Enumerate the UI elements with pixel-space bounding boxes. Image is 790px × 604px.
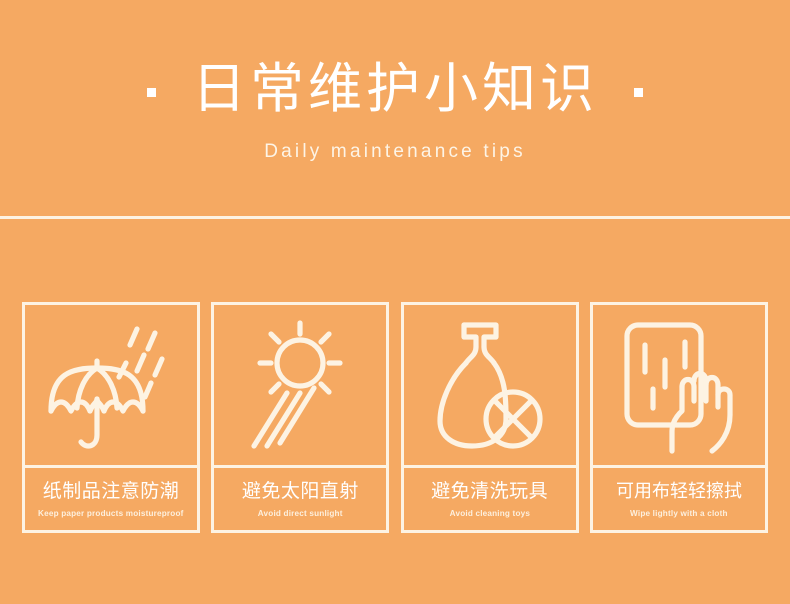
tip-caption-en: Wipe lightly with a cloth [630,508,728,519]
tip-card-avoid-cleaning: 避免清洗玩具 Avoid cleaning toys [401,302,579,533]
tip-caption-en: Keep paper products moistureproof [38,508,184,519]
spray-bottle-no-icon [404,305,576,468]
title-row: 日常维护小知识 [0,58,790,120]
tip-caption-zh: 避免太阳直射 [242,479,359,504]
tip-caption: 可用布轻轻擦拭 Wipe lightly with a cloth [593,468,765,530]
tip-caption-zh: 纸制品注意防潮 [43,479,180,504]
maintenance-tips-banner: 日常维护小知识 Daily maintenance tips [0,0,790,604]
umbrella-rain-icon [25,305,197,468]
page-title: 日常维护小知识 [192,58,598,120]
tip-caption-zh: 可用布轻轻擦拭 [616,479,742,504]
tip-caption-en: Avoid direct sunlight [258,508,343,519]
cloth-hand-wipe-icon [593,305,765,468]
tip-caption: 纸制品注意防潮 Keep paper products moistureproo… [25,468,197,530]
tip-caption: 避免清洗玩具 Avoid cleaning toys [404,468,576,530]
banner-header: 日常维护小知识 Daily maintenance tips [0,0,790,218]
title-decor-dot-left [147,88,156,97]
tip-card-paper-moistureproof: 纸制品注意防潮 Keep paper products moistureproo… [22,302,200,533]
tip-card-wipe-with-cloth: 可用布轻轻擦拭 Wipe lightly with a cloth [590,302,768,533]
tip-caption-zh: 避免清洗玩具 [431,479,548,504]
header-divider [0,216,790,219]
sun-rays-icon [214,305,386,468]
tip-caption-en: Avoid cleaning toys [449,508,529,519]
tip-card-avoid-sunlight: 避免太阳直射 Avoid direct sunlight [211,302,389,533]
tip-caption: 避免太阳直射 Avoid direct sunlight [214,468,386,530]
page-subtitle: Daily maintenance tips [0,139,790,165]
title-decor-dot-right [634,88,643,97]
tips-card-row: 纸制品注意防潮 Keep paper products moistureproo… [22,302,768,533]
